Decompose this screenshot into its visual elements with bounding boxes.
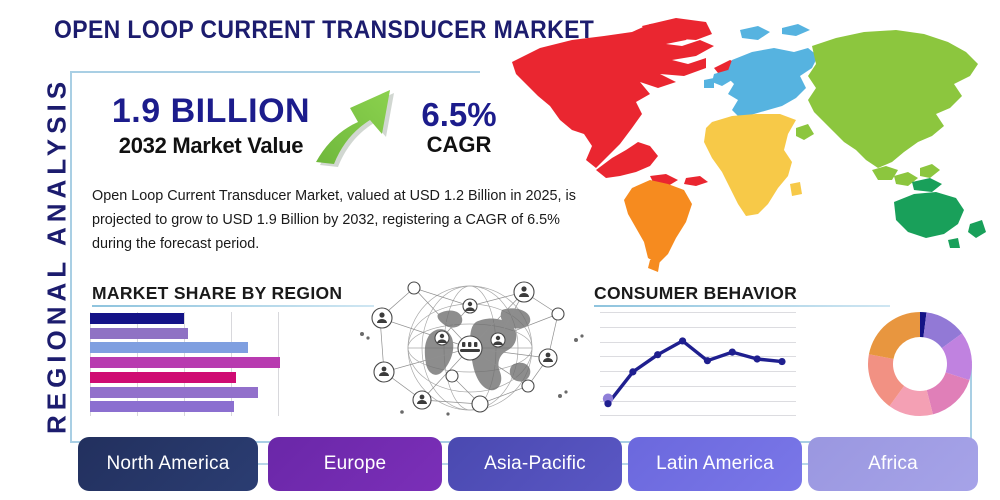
region-pill-asia-pacific[interactable]: Asia-Pacific bbox=[448, 437, 622, 491]
bar-chart-bar bbox=[90, 401, 234, 412]
market-value-number: 1.9 BILLION bbox=[92, 92, 330, 131]
donut-segment bbox=[927, 372, 970, 414]
region-pill-label: Africa bbox=[868, 453, 918, 475]
region-pill-label: Latin America bbox=[656, 453, 774, 475]
bar-chart-bar bbox=[90, 357, 280, 368]
market-share-rule bbox=[92, 305, 374, 307]
cagr-value: 6.5% bbox=[404, 96, 514, 134]
region-pill-bar: North America Europe Asia-Pacific Latin … bbox=[78, 437, 978, 491]
donut-chart bbox=[862, 306, 978, 422]
global-network-globe-icon bbox=[352, 276, 588, 422]
infographic-root: OPEN LOOP CURRENT TRANSDUCER MARKET REGI… bbox=[0, 0, 1000, 500]
line-chart-series bbox=[600, 312, 796, 416]
summary-paragraph: Open Loop Current Transducer Market, val… bbox=[92, 184, 592, 256]
region-pill-label: Europe bbox=[324, 453, 386, 475]
bar-chart-bar bbox=[90, 313, 184, 324]
sidebar-vertical-label: REGIONAL ANALYSIS bbox=[42, 61, 73, 451]
consumer-behavior-line-chart bbox=[600, 312, 796, 416]
market-share-heading: MARKET SHARE BY REGION bbox=[92, 283, 342, 304]
region-pill-latin-america[interactable]: Latin America bbox=[628, 437, 802, 491]
region-pill-europe[interactable]: Europe bbox=[268, 437, 442, 491]
region-pill-africa[interactable]: Africa bbox=[808, 437, 978, 491]
bar-chart-bar bbox=[90, 372, 236, 383]
region-pill-label: Asia-Pacific bbox=[484, 453, 586, 475]
cagr-metric: 6.5% CAGR bbox=[404, 96, 514, 158]
cagr-caption: CAGR bbox=[404, 132, 514, 158]
consumer-behavior-heading: CONSUMER BEHAVIOR bbox=[594, 283, 797, 304]
consumer-behavior-rule bbox=[594, 305, 890, 307]
bar-chart-bar bbox=[90, 342, 248, 353]
donut-segment bbox=[869, 312, 920, 359]
bar-chart-bar bbox=[90, 387, 258, 398]
market-share-bar-chart bbox=[90, 312, 290, 416]
market-value-caption: 2032 Market Value bbox=[92, 133, 330, 159]
growth-arrow-icon bbox=[310, 84, 402, 168]
region-pill-label: North America bbox=[107, 453, 230, 475]
bar-chart-bar bbox=[90, 328, 188, 339]
region-pill-north-america[interactable]: North America bbox=[78, 437, 258, 491]
